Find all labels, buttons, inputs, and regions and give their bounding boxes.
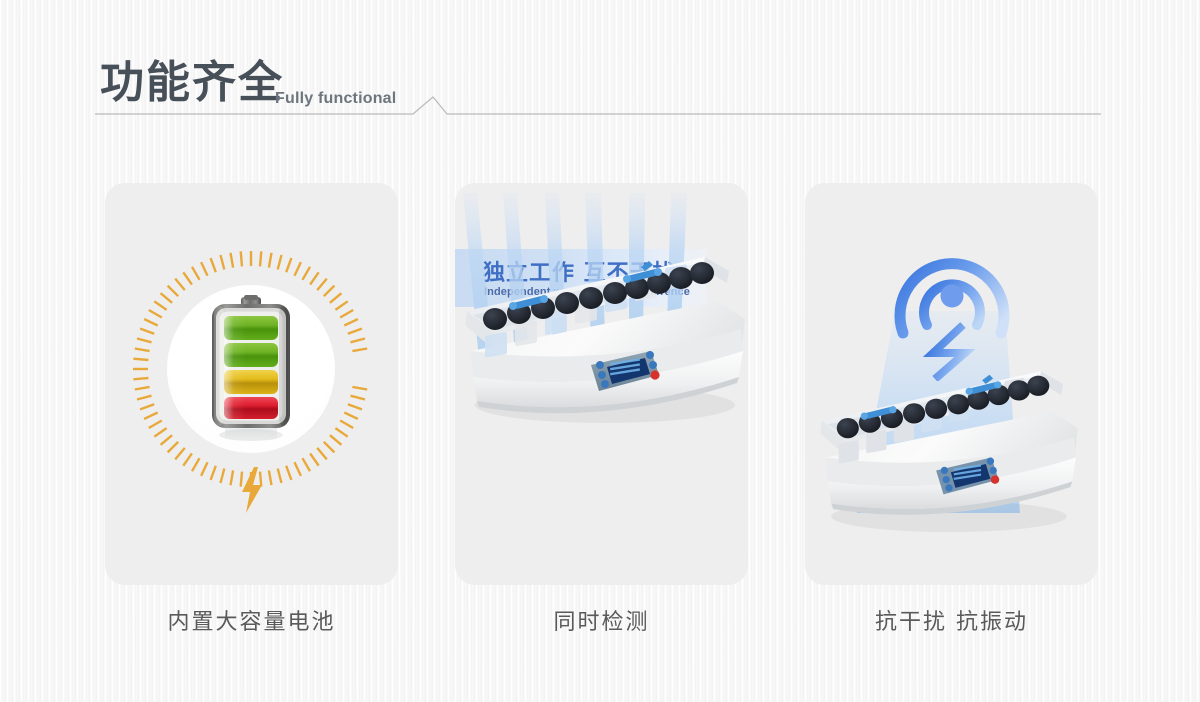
feature-card-anti-interference[interactable]	[805, 183, 1098, 585]
lightning-bolt-icon	[237, 467, 267, 513]
analyzer-device-with-beams	[455, 183, 748, 585]
stop-button	[991, 475, 999, 483]
battery-illustration	[105, 183, 398, 585]
feature-card-battery[interactable]	[105, 183, 398, 585]
peak-divider-icon	[95, 88, 1105, 124]
analyzer-device	[805, 183, 1098, 585]
battery-level-icon	[201, 295, 301, 460]
card-caption-simultaneous: 同时检测	[455, 604, 748, 636]
stop-button	[650, 370, 659, 379]
page-header: 功能齐全 Fully functional	[0, 0, 1200, 140]
card-caption-battery: 内置大容量电池	[105, 604, 398, 636]
feature-card-simultaneous[interactable]: 独立工作 互不干扰 Independent work without inter…	[455, 183, 748, 585]
card-caption-anti-interference: 抗干扰 抗振动	[805, 604, 1098, 636]
